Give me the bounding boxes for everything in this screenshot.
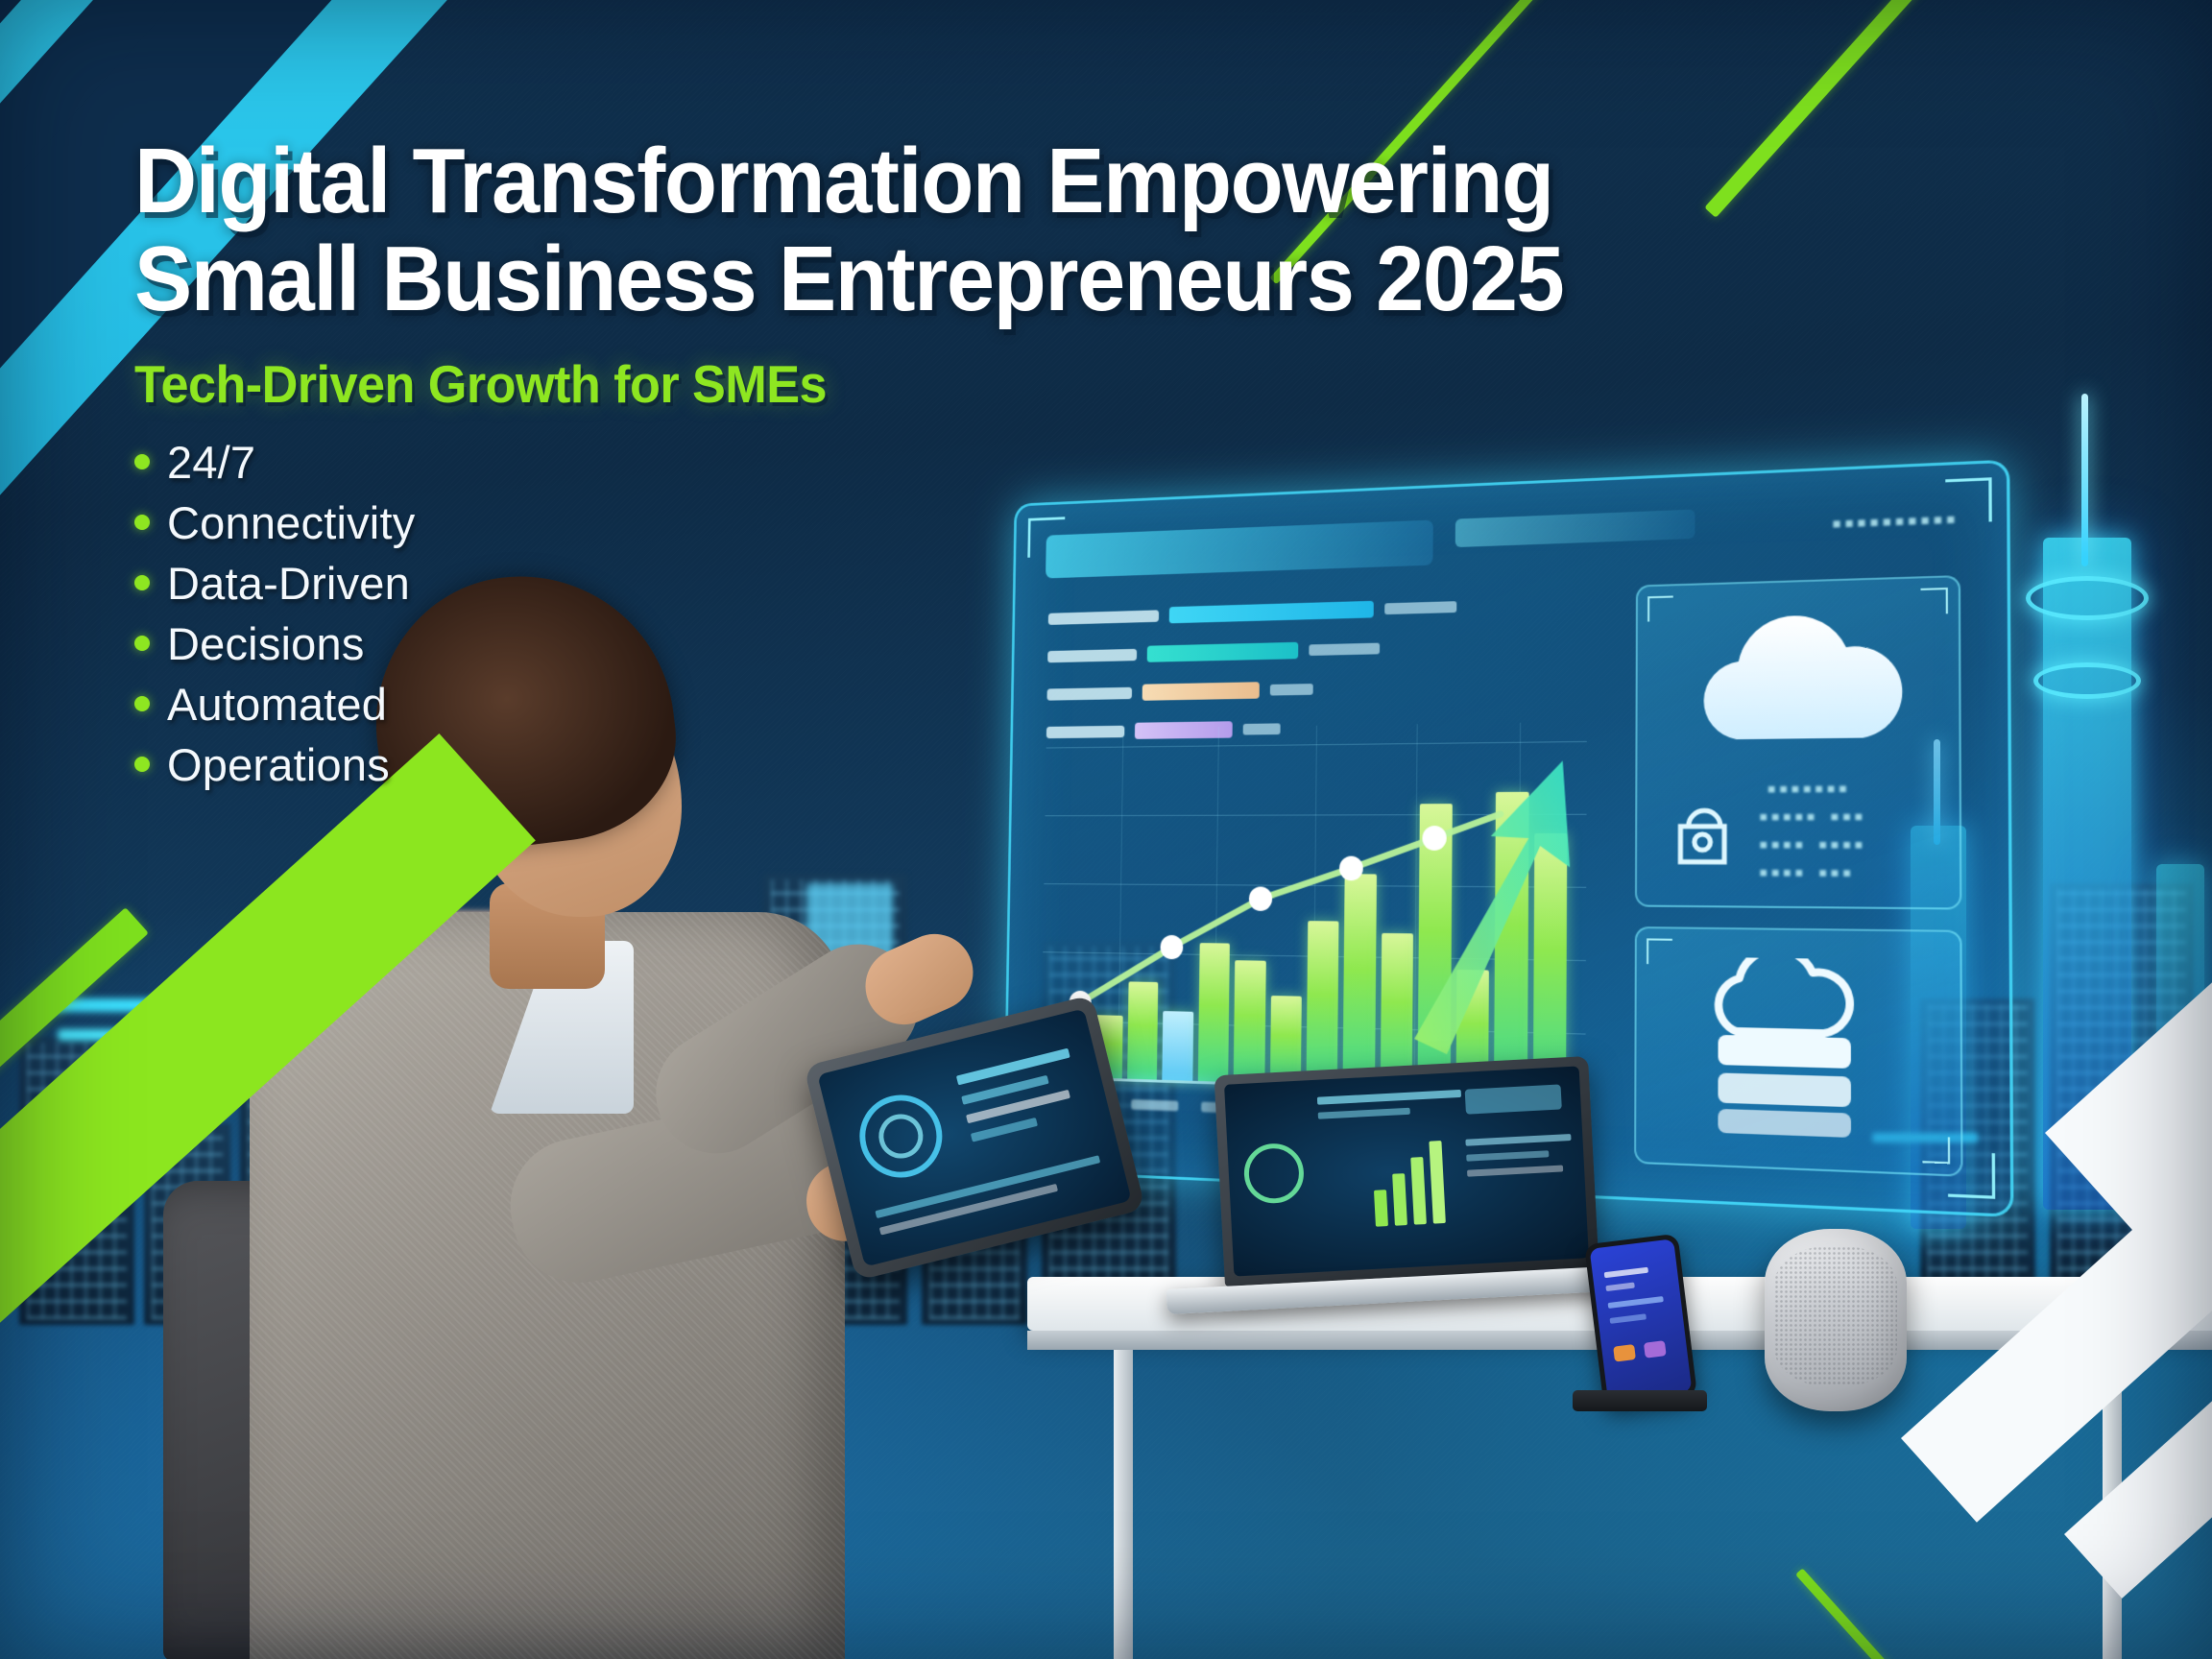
copy-block: Digital Transformation Empowering Small … bbox=[134, 134, 1959, 795]
bullet-label: Operations bbox=[167, 738, 390, 791]
list-item: Connectivity bbox=[134, 493, 1959, 553]
phone-stand bbox=[1573, 1390, 1707, 1411]
bullet-dot-icon bbox=[134, 575, 150, 590]
bullet-dot-icon bbox=[134, 454, 150, 469]
smart-speaker[interactable] bbox=[1765, 1229, 1907, 1411]
subtitle: Tech-Driven Growth for SMEs bbox=[134, 353, 1867, 415]
laptop-device[interactable] bbox=[1214, 1056, 1599, 1286]
laptop-screen bbox=[1224, 1066, 1589, 1276]
bullet-label: Data-Driven bbox=[167, 557, 410, 610]
list-item: Automated bbox=[134, 674, 1959, 734]
list-item: Data-Driven bbox=[134, 553, 1959, 613]
bullet-label: Automated bbox=[167, 678, 387, 731]
phone-screen bbox=[1590, 1238, 1693, 1402]
feature-bullet-list: 24/7ConnectivityData-DrivenDecisionsAuto… bbox=[134, 432, 1959, 795]
list-item: Decisions bbox=[134, 613, 1959, 674]
bullet-label: 24/7 bbox=[167, 436, 255, 489]
smartphone-device[interactable] bbox=[1584, 1234, 1697, 1407]
headline-line-1: Digital Transformation Empowering bbox=[134, 130, 1553, 232]
bullet-label: Decisions bbox=[167, 617, 365, 670]
page-title: Digital Transformation Empowering Small … bbox=[134, 134, 1849, 326]
bullet-dot-icon bbox=[134, 515, 150, 530]
list-item: 24/7 bbox=[134, 432, 1959, 493]
banner-canvas: ▪▪▪▪▪▪▪ ▪▪▪▪▪ ▪▪▪ ▪▪▪▪ ▪▪▪▪ ▪▪▪▪ ▪▪▪ ▪▪▪… bbox=[0, 0, 2212, 1659]
desk-leg bbox=[1114, 1350, 1133, 1659]
holo-card-database bbox=[1634, 926, 1962, 1177]
bullet-dot-icon bbox=[134, 636, 150, 651]
bullet-dot-icon bbox=[134, 696, 150, 711]
cloud-database-icon bbox=[1684, 956, 1888, 1142]
bullet-dot-icon bbox=[134, 757, 150, 772]
headline-line-2: Small Business Entrepreneurs 2025 bbox=[134, 232, 1849, 326]
fingerprint-lock-icon bbox=[1667, 786, 1741, 872]
bullet-label: Connectivity bbox=[167, 496, 415, 549]
list-item: Operations bbox=[134, 734, 1959, 795]
